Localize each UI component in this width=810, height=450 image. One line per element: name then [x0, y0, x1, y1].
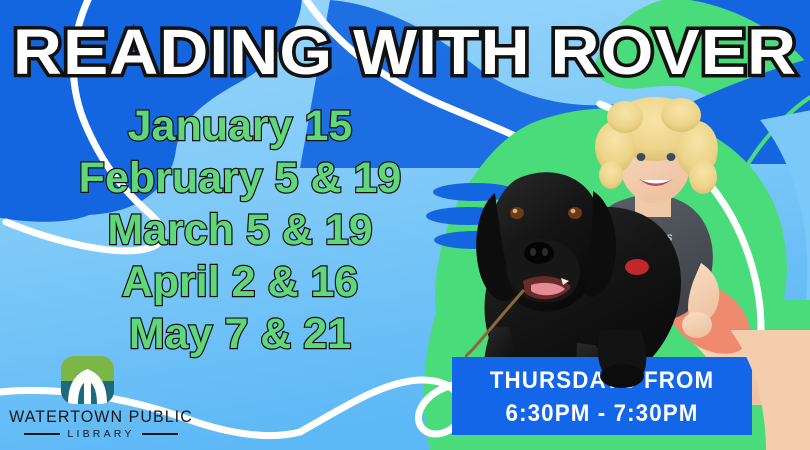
- logo-name: WATERTOWN PUBLIC: [9, 408, 193, 427]
- dog-nose: [524, 242, 554, 264]
- date-line-april: April 2 & 16: [20, 256, 460, 308]
- logo-rule-left: [24, 433, 60, 435]
- date-list: January 15 February 5 & 19 March 5 & 19 …: [20, 100, 460, 360]
- dog-eye-right: [568, 207, 582, 219]
- logo-rule-right: [142, 433, 178, 435]
- dog-collar-tag: [625, 259, 649, 275]
- poster-canvas: small wins lead to big: [0, 0, 810, 450]
- date-line-may: May 7 & 21: [20, 308, 460, 360]
- child-eye-right: [667, 153, 676, 161]
- time-line-hours: 6:30PM - 7:30PM: [463, 397, 742, 430]
- page-title: READING WITH ROVER: [0, 20, 810, 84]
- time-info-box: THURSDAYS FROM 6:30PM - 7:30PM: [452, 357, 752, 435]
- library-logo: WATERTOWN PUBLIC LIBRARY: [6, 356, 196, 442]
- child-eye-left: [637, 153, 646, 161]
- date-line-march: March 5 & 19: [20, 204, 460, 256]
- dog-eye-left: [510, 207, 524, 219]
- library-tulip-mark-icon: [61, 356, 114, 404]
- date-line-january: January 15: [20, 100, 460, 152]
- date-line-february: February 5 & 19: [20, 152, 460, 204]
- child-hand: [682, 312, 712, 338]
- logo-sub-row: LIBRARY: [6, 428, 196, 440]
- time-line-days: THURSDAYS FROM: [463, 357, 742, 397]
- logo-sub: LIBRARY: [67, 428, 134, 440]
